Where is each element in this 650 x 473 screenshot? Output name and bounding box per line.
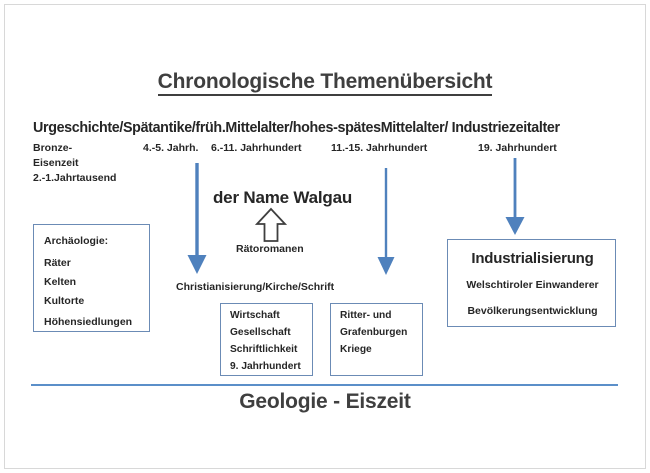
arrow-down-industrialisierung [502,158,528,236]
box-ritter-item-ritter: Ritter- und [340,311,392,321]
box-industrialisierung-item-einwanderer: Welschtiroler Einwanderer [448,280,617,291]
box-ritter: Ritter- und Grafenburgen Kriege [330,303,423,376]
box-wirtschaft-item-jahrhundert: 9. Jahrhundert [230,362,301,372]
box-archaeologie-item-kultorte: Kultorte [44,296,84,307]
box-archaeologie: Archäologie: Räter Kelten Kultorte Höhen… [33,224,150,332]
timeline-subdate-jahrtausend: 2.-1.Jahrtausend [33,172,116,184]
box-industrialisierung-item-bevoelkerung: Bevölkerungsentwicklung [448,306,617,317]
box-wirtschaft-item-schriftlichkeit: Schriftlichkeit [230,345,297,355]
box-wirtschaft-item-gesellschaft: Gesellschaft [230,328,291,338]
timeline-date-4-5: 4.-5. Jahrh. [143,142,198,154]
box-ritter-item-kriege: Kriege [340,345,372,355]
footer-title: Geologie - Eiszeit [0,390,650,414]
box-ritter-item-grafenburgen: Grafenburgen [340,328,407,338]
box-wirtschaft: Wirtschaft Gesellschaft Schriftlichkeit … [220,303,313,376]
timeline-date-11-15: 11.-15. Jahrhundert [331,142,427,154]
page-border-bottom [4,468,646,469]
arrow-down-christianisierung [184,163,210,275]
page-border-top [4,4,646,5]
arrow-down-burgen [373,168,399,276]
label-raetoromanen: Rätoromanen [236,243,304,255]
timeline-date-bronze: Bronze- [33,142,72,154]
timeline-eras-line: Urgeschichte/Spätantike/früh.Mittelalter… [33,120,628,136]
box-archaeologie-heading: Archäologie: [44,236,108,247]
box-archaeologie-item-kelten: Kelten [44,277,76,288]
label-christianisierung: Christianisierung/Kirche/Schrift [176,281,334,293]
box-industrialisierung: Industrialisierung Welschtiroler Einwand… [447,239,616,327]
bottom-divider-rule [31,384,618,386]
label-der-name-walgau: der Name Walgau [213,188,352,208]
arrow-up-raetoromanen [254,207,288,243]
timeline-subdate-eisenzeit: Eisenzeit [33,157,79,169]
timeline-date-6-11: 6.-11. Jahrhundert [211,142,301,154]
slide-canvas: Chronologische Themenübersicht Urgeschic… [0,0,650,473]
box-archaeologie-item-hoehensiedlungen: Höhensiedlungen [44,317,132,328]
box-industrialisierung-heading: Industrialisierung [448,250,617,267]
page-title: Chronologische Themenübersicht [0,70,650,94]
page-title-text: Chronologische Themenübersicht [158,70,493,96]
box-wirtschaft-item-wirtschaft: Wirtschaft [230,311,280,321]
timeline-date-19: 19. Jahrhundert [478,142,557,154]
box-archaeologie-item-raeter: Räter [44,258,71,269]
